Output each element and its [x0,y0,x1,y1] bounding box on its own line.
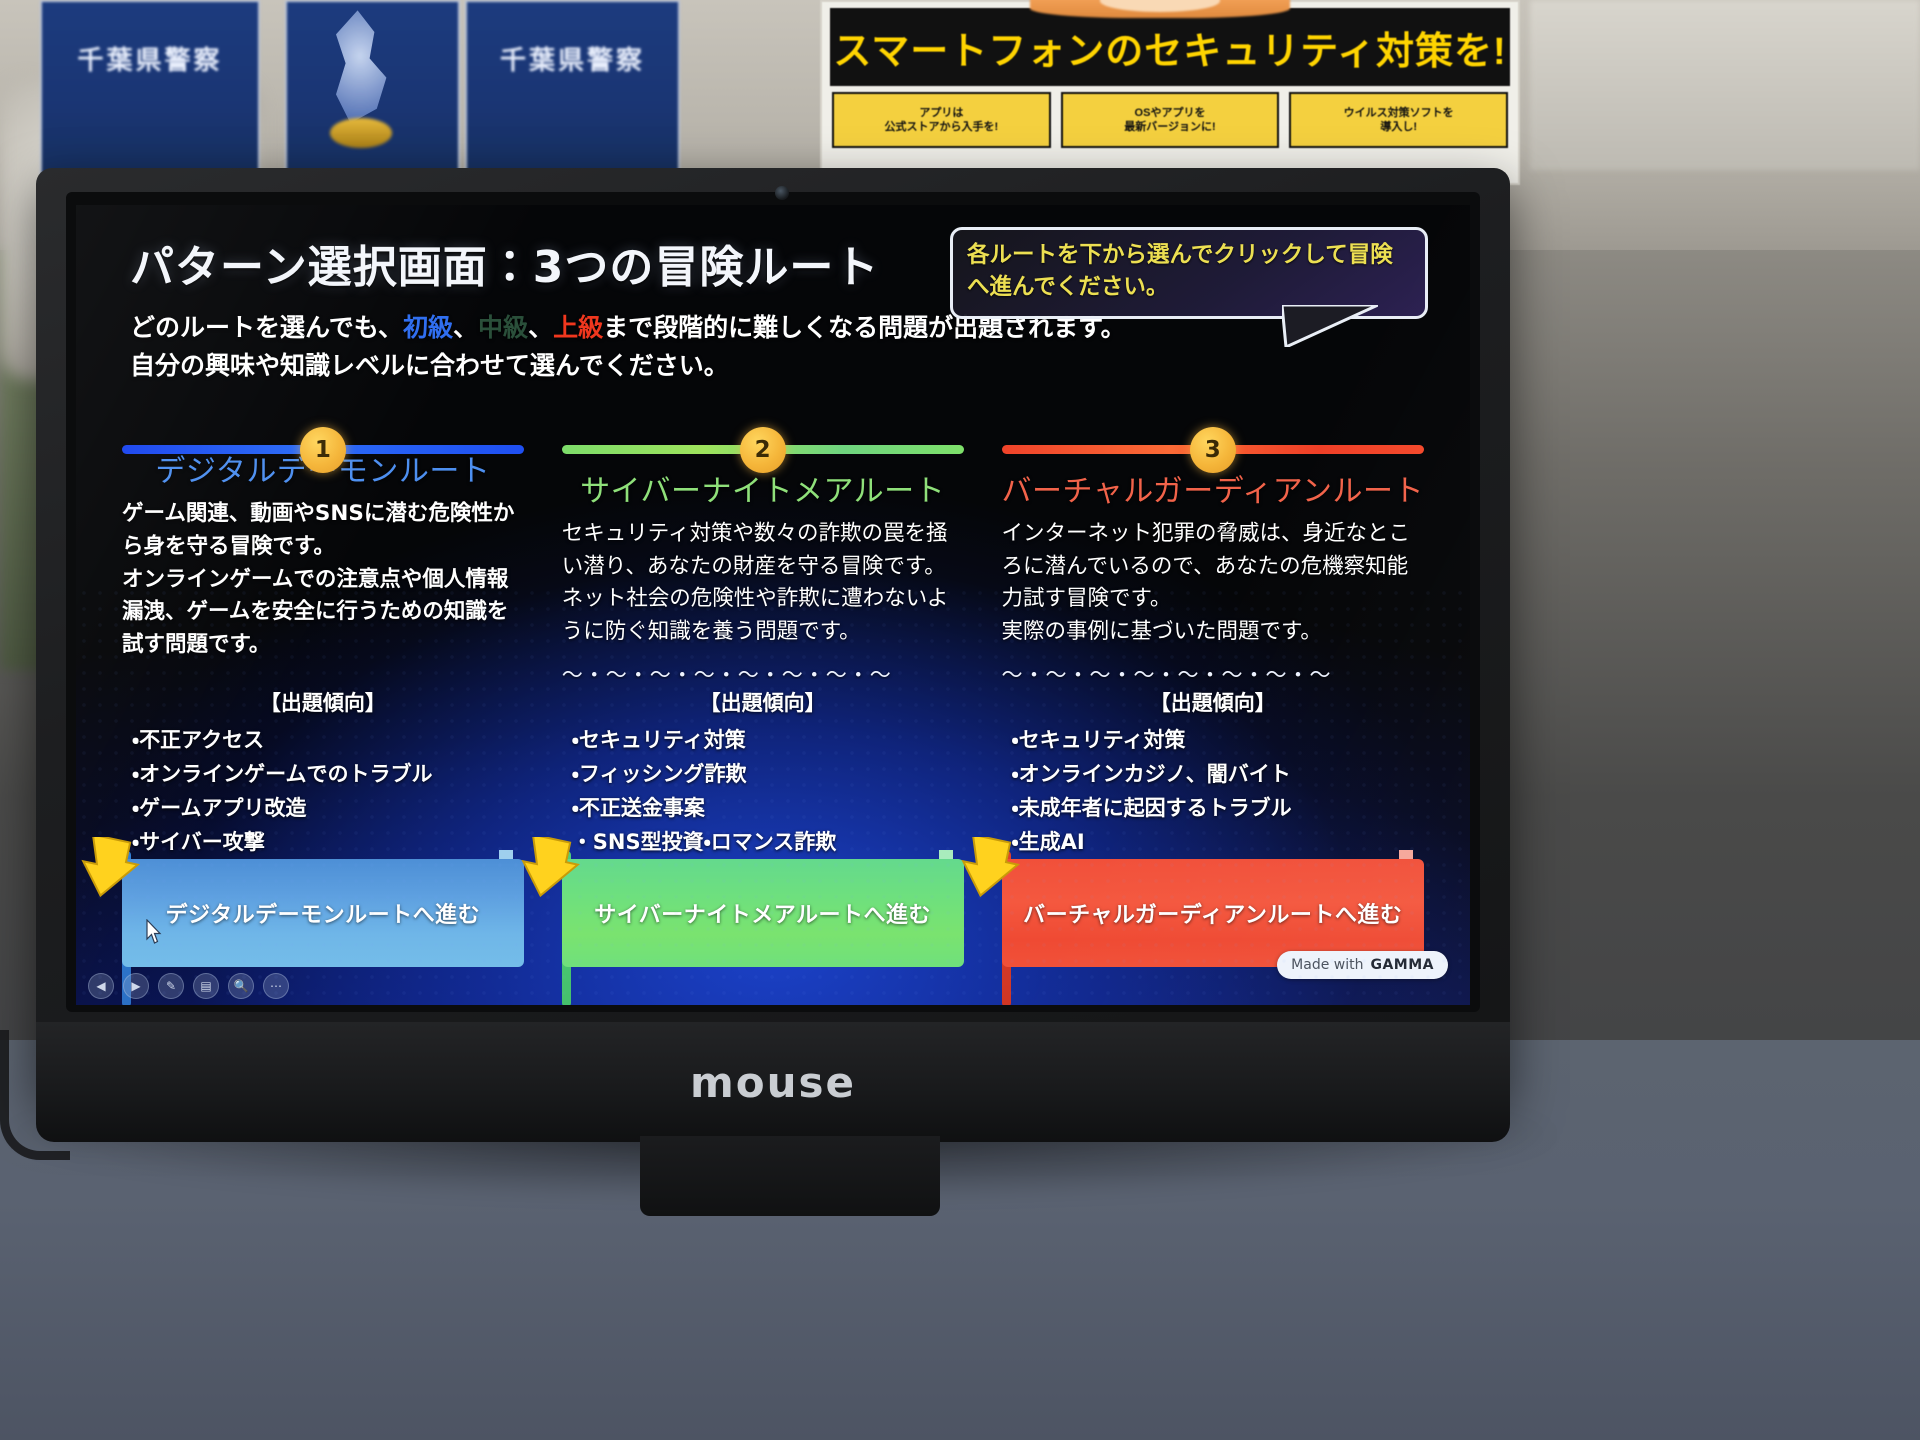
callout-tail-icon [1282,305,1378,347]
list-item: 未成年者に起因するトラブル [1012,791,1425,825]
list-item: 不正アクセス [132,723,524,757]
list-item: SNS型投資・ロマンス詐欺 [572,825,964,859]
route-divider: 〜・〜・〜・〜・〜・〜・〜・〜 [122,672,524,679]
subtitle-paragraph: どのルートを選んでも、初級、中級、上級まで段階的に難しくなる問題が出題されます。… [130,309,1424,384]
made-with-gamma-badge[interactable]: Made with GAMMA [1277,951,1448,979]
route-cta-wrap: サイバーナイトメアルートへ進む [562,859,964,993]
security-poster-cell: ウイルス対策ソフトを 導入し! [1289,92,1508,148]
slide-toolbar: ◀ ▶ ✎ ▤ 🔍 ⋯ [88,973,289,999]
tendency-heading: 【出題傾向】 [1002,687,1425,717]
room-scene: 千葉県警察 千葉県警察 スマートフォンのセキュリティ対策を! アプリは 公式スト… [0,0,1920,1440]
list-item: オンラインカジノ、闇バイト [1012,757,1425,791]
route-divider: 〜・〜・〜・〜・〜・〜・〜・〜 [562,659,964,679]
security-poster-cell: アプリは 公式ストアから入手を! [832,92,1051,148]
list-item: ゲームアプリ改造 [132,791,524,825]
route-number-badge: 2 [740,427,786,473]
route-column-cyber-nightmare: 2 サイバーナイトメアルート セキュリティ対策や数々の詐欺の罠を掻い潜り、あなた… [562,427,964,993]
route-rule-wrap: 3 [1002,427,1425,458]
previous-slide-icon[interactable]: ◀ [88,973,114,999]
security-poster-cell: OSやアプリを 最新バージョンに! [1061,92,1280,148]
route-rule-wrap: 2 [562,427,964,458]
gamma-name-label: GAMMA [1370,957,1434,973]
background-poster-far-right [1530,0,1920,170]
route-number-badge: 3 [1190,427,1236,473]
laptop-screen: パターン選択画面：3つの冒険ルート 各ルートを下から選んでクリックして冒険へ進ん… [76,205,1470,1005]
mouse-pointer-icon [146,919,162,945]
subtitle-sep2: 、 [528,313,553,342]
police-emblem-icon [330,118,392,148]
gamma-prefix-label: Made with [1291,957,1363,973]
laptop-chin-bar: mouse [36,1022,1510,1142]
route-column-virtual-guardian: 3 バーチャルガーディアンルート インターネット犯罪の脅威は、身近なところに潜ん… [1002,427,1425,993]
list-item: オンラインゲームでのトラブル [132,757,524,791]
security-poster-cells: アプリは 公式ストアから入手を! OSやアプリを 最新バージョンに! ウイルス対… [822,92,1518,148]
police-banner-right: 千葉県警察 [465,0,680,180]
laptop-stand [640,1136,940,1216]
webcam-icon [775,186,789,200]
security-poster: スマートフォンのセキュリティ対策を! アプリは 公式ストアから入手を! OSやア… [820,0,1520,185]
route-description: インターネット犯罪の脅威は、身近なところに潜んでいるので、あなたの危機察知能力試… [1002,518,1425,649]
level-intermediate-label: 中級 [478,313,528,342]
list-item: サイバー攻撃 [132,825,524,859]
list-item: セキュリティ対策 [572,723,964,757]
level-advanced-label: 上級 [553,313,603,342]
cta-button-cyber-nightmare[interactable]: サイバーナイトメアルートへ進む [562,859,964,967]
route-rule-wrap: 1 [122,427,524,438]
route-column-digital-demon: 1 デジタルデーモンルート ゲーム関連、動画やSNSに潜む危険性から身を守る冒険… [122,427,524,993]
list-item: フィッシング詐欺 [572,757,964,791]
presentation-slide: パターン選択画面：3つの冒険ルート 各ルートを下から選んでクリックして冒険へ進ん… [76,205,1470,1005]
zoom-icon[interactable]: 🔍 [228,973,254,999]
more-options-icon[interactable]: ⋯ [263,973,289,999]
tendency-list: セキュリティ対策 フィッシング詐欺 不正送金事案 SNS型投資・ロマンス詐欺 [562,723,964,859]
cursor-arrow-icon [960,837,1020,903]
tendency-heading: 【出題傾向】 [562,687,964,717]
instruction-callout-text: 各ルートを下から選んでクリックして冒険へ進んでください。 [967,240,1411,304]
route-divider: 〜・〜・〜・〜・〜・〜・〜・〜 [1002,659,1425,679]
route-description: セキュリティ対策や数々の詐欺の罠を掻い潜り、あなたの財産を守る冒険です。 ネット… [562,518,964,649]
laptop-brand-label: mouse [690,1058,856,1107]
pen-icon[interactable]: ✎ [158,973,184,999]
cursor-arrow-icon [80,837,140,903]
subtitle-sep1: 、 [453,313,478,342]
route-description: ゲーム関連、動画やSNSに潜む危険性から身を守る冒険です。 オンラインゲームでの… [122,498,524,661]
route-number-badge: 1 [300,427,346,473]
security-poster-headline: スマートフォンのセキュリティ対策を! [830,8,1510,86]
police-banner-text-2: 千葉県警察 [500,40,645,77]
subtitle-line2: 自分の興味や知識レベルに合わせて選んでください。 [130,347,1424,385]
list-item: 生成AI [1012,825,1425,859]
tendency-list: セキュリティ対策 オンラインカジノ、闇バイト 未成年者に起因するトラブル 生成A… [1002,723,1425,859]
police-banner-left: 千葉県警察 [40,0,260,180]
route-columns: 1 デジタルデーモンルート ゲーム関連、動画やSNSに潜む危険性から身を守る冒険… [122,427,1424,993]
tendency-heading: 【出題傾向】 [122,687,524,717]
level-beginner-label: 初級 [403,313,453,342]
subtitle-part1: どのルートを選んでも、 [130,313,403,342]
slides-overview-icon[interactable]: ▤ [193,973,219,999]
police-banner-text: 千葉県警察 [77,40,222,77]
cta-button-digital-demon[interactable]: デジタルデーモンルートへ進む [122,859,524,967]
list-item: セキュリティ対策 [1012,723,1425,757]
next-slide-icon[interactable]: ▶ [123,973,149,999]
tendency-list: 不正アクセス オンラインゲームでのトラブル ゲームアプリ改造 サイバー攻撃 [122,723,524,859]
cursor-arrow-icon [520,837,580,903]
list-item: 不正送金事案 [572,791,964,825]
